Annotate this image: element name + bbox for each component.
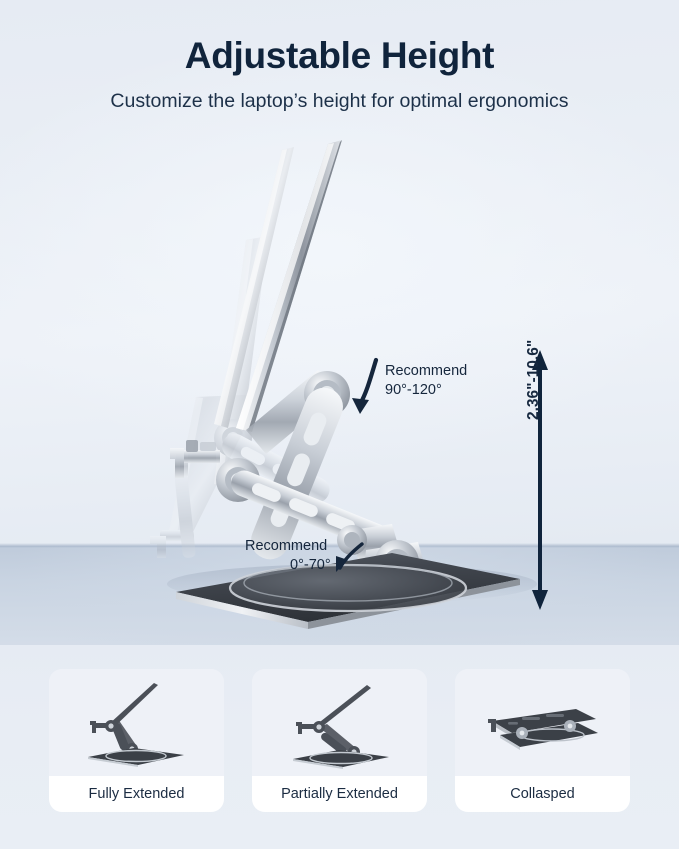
stand-fully-extended-icon — [49, 669, 224, 776]
product-illustration — [0, 132, 679, 632]
stand-collapsed-icon — [455, 669, 630, 776]
recommend-bottom-line1: Recommend — [245, 537, 331, 556]
card-label-fully-extended: Fully Extended — [49, 776, 224, 812]
recommend-angle-bottom: Recommend 0°-70° — [245, 537, 331, 574]
curved-arrow-down-left-icon-top — [352, 360, 376, 414]
product-infographic: Adjustable Height Customize the laptop’s… — [0, 0, 679, 849]
card-collapsed[interactable]: Collasped — [455, 669, 630, 812]
header: Adjustable Height Customize the laptop’s… — [0, 0, 679, 113]
card-fully-extended[interactable]: Fully Extended — [49, 669, 224, 812]
page-title: Adjustable Height — [0, 0, 679, 77]
card-label-partially-extended: Partially Extended — [252, 776, 427, 812]
recommend-bottom-line2: 0°-70° — [245, 556, 331, 575]
recommend-top-line2: 90°-120° — [385, 381, 467, 400]
page-subtitle: Customize the laptop’s height for optima… — [0, 77, 679, 113]
variant-cards: Fully Extended — [0, 669, 679, 814]
height-range-label: 2.36"-10.6" — [525, 300, 543, 420]
recommend-top-line1: Recommend — [385, 362, 467, 381]
base-plate — [176, 553, 520, 629]
stand-partially-extended-icon — [252, 669, 427, 776]
card-label-collapsed: Collasped — [455, 776, 630, 812]
card-partially-extended[interactable]: Partially Extended — [252, 669, 427, 812]
recommend-angle-top: Recommend 90°-120° — [385, 362, 467, 399]
